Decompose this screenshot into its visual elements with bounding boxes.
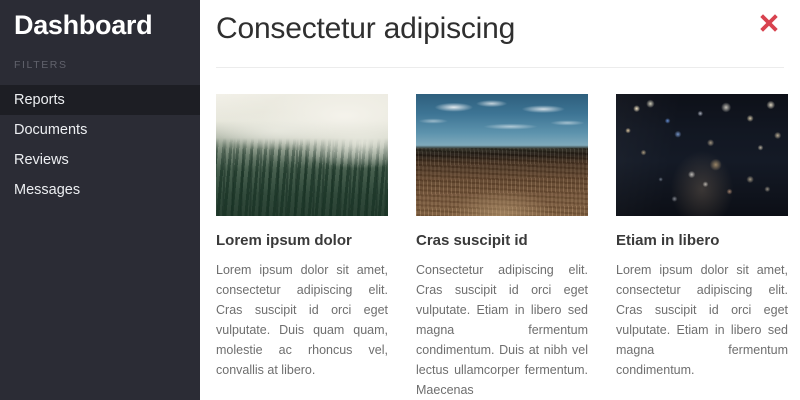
sidebar-section-label-filters: FILTERS	[0, 42, 200, 72]
page-title: Consectetur adipiscing	[216, 8, 515, 50]
app-root: Dashboard FILTERS Reports Documents Revi…	[0, 0, 800, 400]
card-body-text: Consectetur adipiscing elit. Cras suscip…	[416, 260, 588, 400]
sidebar-item-reports[interactable]: Reports	[0, 85, 200, 115]
close-x-icon	[757, 11, 781, 35]
card-title: Etiam in libero	[616, 231, 788, 251]
app-brand-title: Dashboard	[0, 0, 200, 42]
main-content: Consectetur adipiscing Lorem ipsum dolor…	[200, 0, 800, 400]
close-button[interactable]	[754, 8, 784, 38]
sidebar: Dashboard FILTERS Reports Documents Revi…	[0, 0, 200, 400]
card-item[interactable]: Lorem ipsum dolor Lorem ipsum dolor sit …	[216, 94, 388, 400]
card-body-text: Lorem ipsum dolor sit amet, consectetur …	[216, 260, 388, 380]
sidebar-item-reviews[interactable]: Reviews	[0, 145, 200, 175]
card-grid: Lorem ipsum dolor Lorem ipsum dolor sit …	[216, 68, 784, 400]
sidebar-nav: Reports Documents Reviews Messages	[0, 85, 200, 205]
card-title: Lorem ipsum dolor	[216, 231, 388, 251]
open-field-path-photo	[416, 94, 588, 216]
card-item[interactable]: Etiam in libero Lorem ipsum dolor sit am…	[616, 94, 788, 400]
misty-forest-photo	[216, 94, 388, 216]
card-title: Cras suscipit id	[416, 231, 588, 251]
card-body-text: Lorem ipsum dolor sit amet, consectetur …	[616, 260, 788, 380]
page-header: Consectetur adipiscing	[216, 0, 784, 67]
sidebar-item-documents[interactable]: Documents	[0, 115, 200, 145]
sidebar-item-messages[interactable]: Messages	[0, 175, 200, 205]
night-city-lights-photo	[616, 94, 788, 216]
card-item[interactable]: Cras suscipit id Consectetur adipiscing …	[416, 94, 588, 400]
